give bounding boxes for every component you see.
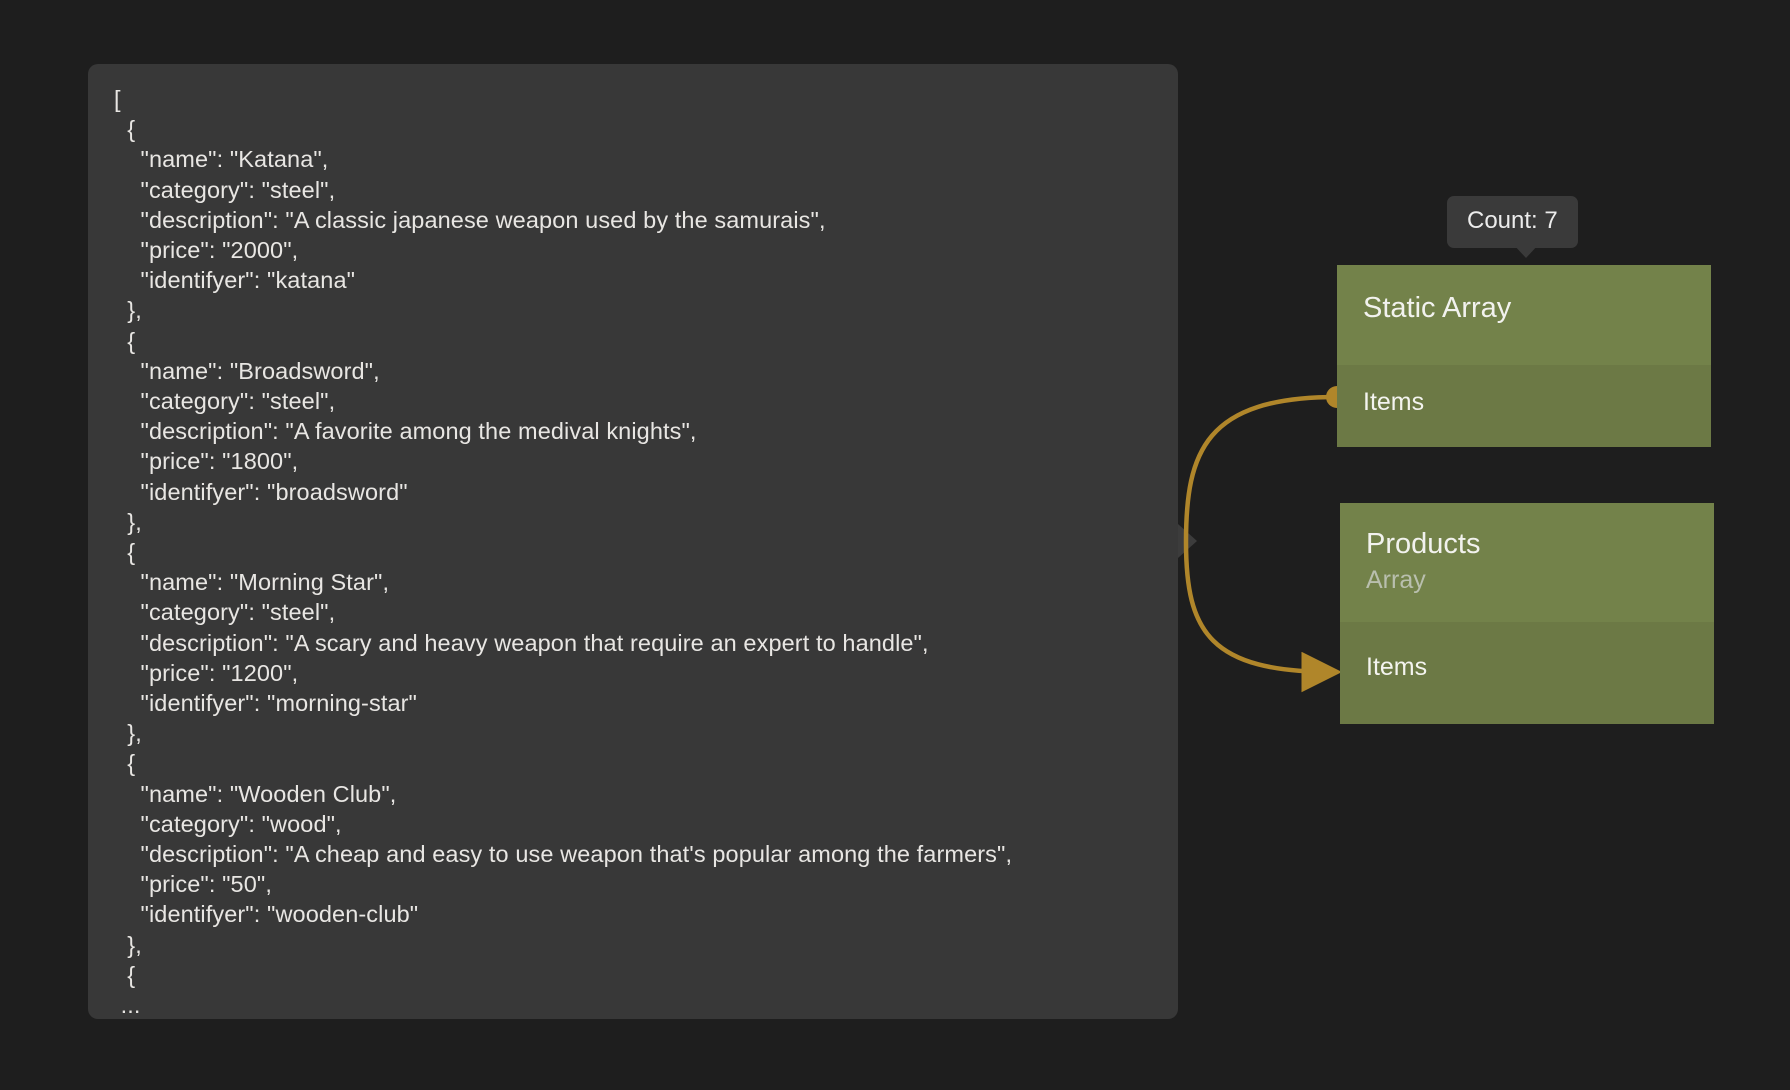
node-card-static-array[interactable]: Static Array Items <box>1337 265 1711 447</box>
products-subtitle: Array <box>1366 564 1688 596</box>
static-array-row-items[interactable]: Items <box>1363 387 1685 417</box>
static-array-body: Items <box>1337 365 1711 447</box>
connector-path <box>1186 397 1337 672</box>
static-array-header: Static Array <box>1337 265 1711 365</box>
products-header: Products Array <box>1340 503 1714 622</box>
products-title: Products <box>1366 527 1688 561</box>
count-tooltip: Count: 7 <box>1447 196 1578 248</box>
node-card-products[interactable]: Products Array Items <box>1340 503 1714 724</box>
json-code-text: [ { "name": "Katana", "category": "steel… <box>114 84 1152 1019</box>
products-row-items[interactable]: Items <box>1366 652 1688 682</box>
static-array-title: Static Array <box>1363 291 1685 325</box>
count-tooltip-label: Count: 7 <box>1467 207 1558 234</box>
count-tooltip-arrow-icon <box>1513 244 1539 258</box>
json-code-panel[interactable]: [ { "name": "Katana", "category": "steel… <box>88 64 1178 1019</box>
products-body: Items <box>1340 622 1714 724</box>
canvas: [ { "name": "Katana", "category": "steel… <box>0 0 1790 1090</box>
panel-output-connector-nub[interactable] <box>1178 524 1197 558</box>
